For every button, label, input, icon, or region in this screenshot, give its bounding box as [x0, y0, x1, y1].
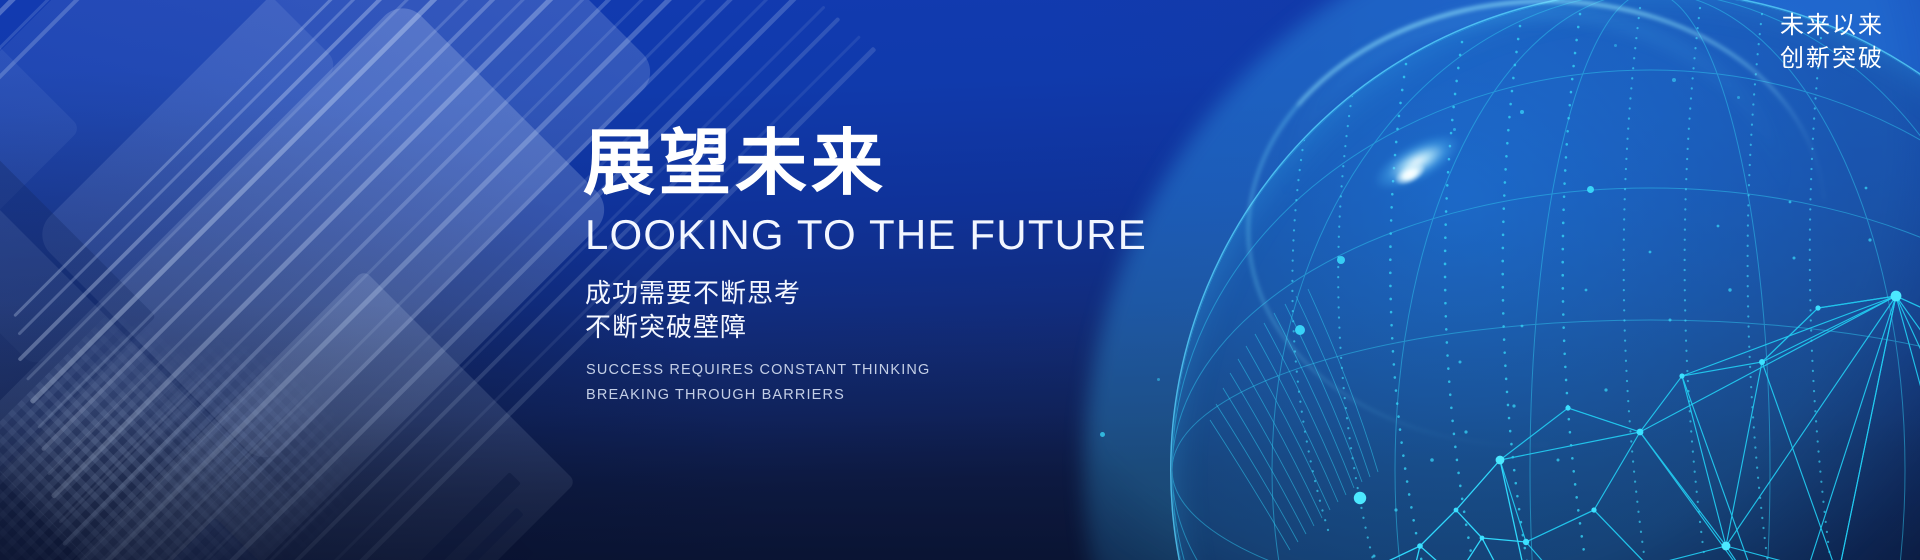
particle-dot	[1453, 128, 1456, 131]
corner-tagline-line2: 创新突破	[1780, 43, 1884, 76]
particle-dot	[1672, 78, 1676, 82]
particle-dot	[1587, 186, 1594, 193]
particle-dot	[1737, 96, 1740, 99]
wireframe-globe	[1170, 0, 1920, 560]
page-title-english: LOOKING TO THE FUTURE	[585, 214, 1203, 256]
subtitle-chinese-line1: 成功需要不断思考	[585, 276, 1203, 310]
particle-dot	[1520, 110, 1524, 114]
subtitle-chinese: 成功需要不断思考 不断突破壁障	[585, 276, 1203, 344]
subtitle-english-line2: BREAKING THROUGH BARRIERS	[586, 383, 1203, 408]
subtitle-english-line1: SUCCESS REQUIRES CONSTANT THINKING	[586, 358, 1203, 383]
subtitle-chinese-line2: 不断突破壁障	[585, 310, 1203, 344]
headline-block: 展望未来 LOOKING TO THE FUTURE 成功需要不断思考 不断突破…	[583, 128, 1203, 408]
particle-dot	[1100, 432, 1105, 437]
particle-dot	[1337, 256, 1345, 264]
corner-tagline-line1: 未来以来	[1780, 10, 1884, 43]
hero-banner: 未来以来 创新突破 展望未来 LOOKING TO THE FUTURE 成功需…	[0, 0, 1920, 560]
corner-tagline: 未来以来 创新突破	[1780, 10, 1884, 75]
subtitle-english: SUCCESS REQUIRES CONSTANT THINKING BREAK…	[586, 358, 1203, 408]
page-title: 展望未来	[583, 128, 1203, 200]
particle-dot	[1295, 325, 1305, 335]
particle-dot	[1614, 44, 1617, 47]
